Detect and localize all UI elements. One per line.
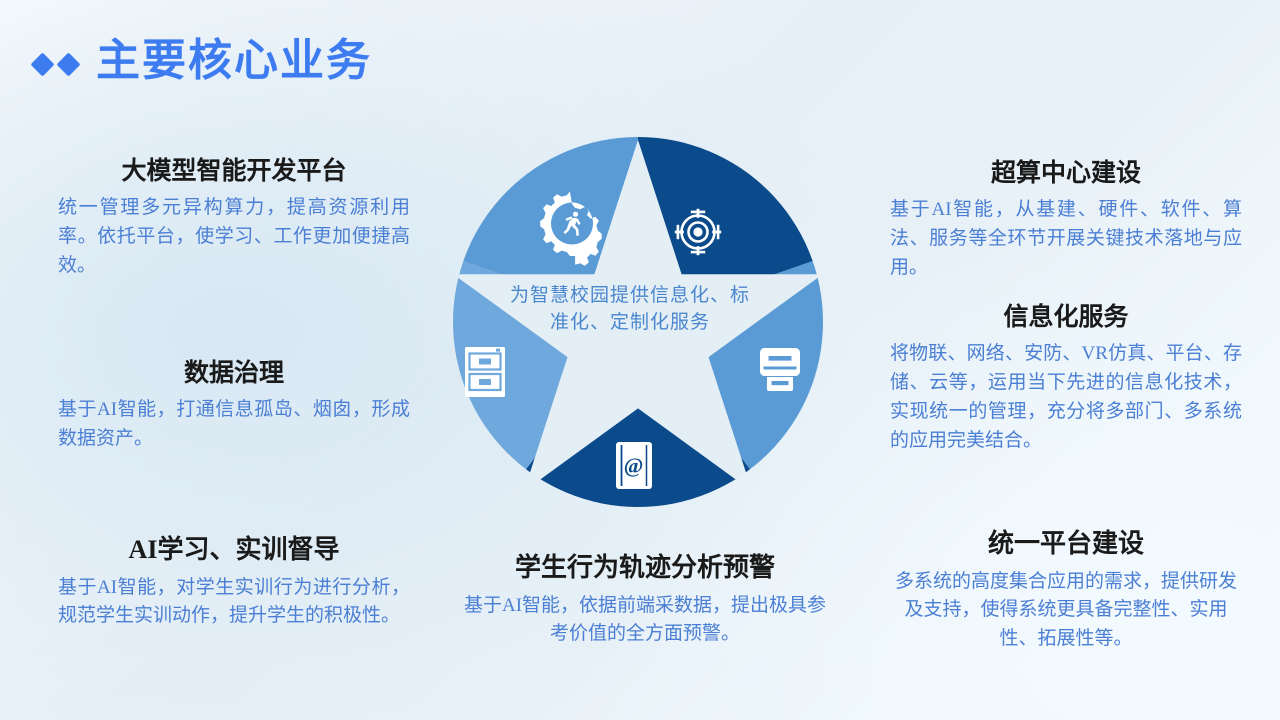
- at-book-icon: @: [616, 442, 652, 489]
- content-block-data-governance: 数据治理 基于AI智能，打通信息孤岛、烟囱，形成数据资产。: [58, 358, 410, 454]
- content-block-platform: 大模型智能开发平台 统一管理多元异构算力，提高资源利用率。依托平台，使学习、工作…: [58, 156, 410, 281]
- content-block-ai-training: AI学习、实训督导 基于AI智能，对学生实训行为进行分析，规范学生实训动作，提升…: [58, 534, 410, 631]
- server-icon: [465, 347, 505, 397]
- diagram-center-caption: 为智慧校园提供信息化、标准化、定制化服务: [510, 283, 750, 337]
- block-heading: 学生行为轨迹分析预警: [455, 552, 835, 585]
- block-body: 多系统的高度集合应用的需求，提供研发及支持，使得系统更具备完整性、实用性、拓展性…: [890, 568, 1242, 655]
- slide-canvas: 主要核心业务 大模型智能开发平台 统一管理多元异构算力，提高资源利用率。依托平台…: [0, 0, 1280, 720]
- content-block-unified-platform: 统一平台建设 多系统的高度集合应用的需求，提供研发及支持，使得系统更具备完整性、…: [890, 528, 1242, 654]
- block-body: 基于AI智能，依据前端采数据，提出极具参考价值的全方面预警。: [455, 592, 835, 650]
- block-body: 基于AI智能，对学生实训行为进行分析，规范学生实训动作，提升学生的积极性。: [58, 574, 410, 632]
- block-heading: 统一平台建设: [890, 528, 1242, 561]
- content-block-supercomputing: 超算中心建设 基于AI智能，从基建、硬件、软件、算法、服务等全环节开展关键技术落…: [890, 158, 1242, 283]
- diamond-icon: [56, 52, 80, 76]
- svg-text:@: @: [624, 454, 644, 478]
- block-heading: 大模型智能开发平台: [58, 156, 410, 187]
- content-block-student-behavior: 学生行为轨迹分析预警 基于AI智能，依据前端采数据，提出极具参考价值的全方面预警…: [455, 552, 835, 649]
- block-heading: 超算中心建设: [890, 158, 1242, 189]
- block-body: 基于AI智能，打通信息孤岛、烟囱，形成数据资产。: [58, 396, 410, 454]
- block-heading: 信息化服务: [890, 302, 1242, 333]
- block-body: 统一管理多元异构算力，提高资源利用率。依托平台，使学习、工作更加便捷高效。: [58, 194, 410, 281]
- block-body: 将物联、网络、安防、VR仿真、平台、存储、云等，运用当下先进的信息化技术，实现统…: [890, 340, 1242, 456]
- title-bullet-group: [34, 56, 77, 73]
- block-heading: 数据治理: [58, 358, 410, 389]
- block-heading: AI学习、实训督导: [58, 534, 410, 567]
- diamond-icon: [30, 52, 54, 76]
- content-block-informatization: 信息化服务 将物联、网络、安防、VR仿真、平台、存储、云等，运用当下先进的信息化…: [890, 302, 1242, 456]
- page-title: 主要核心业务: [96, 39, 372, 83]
- block-body: 基于AI智能，从基建、硬件、软件、算法、服务等全环节开展关键技术落地与应用。: [890, 196, 1242, 283]
- slide-header: 主要核心业务: [34, 30, 372, 92]
